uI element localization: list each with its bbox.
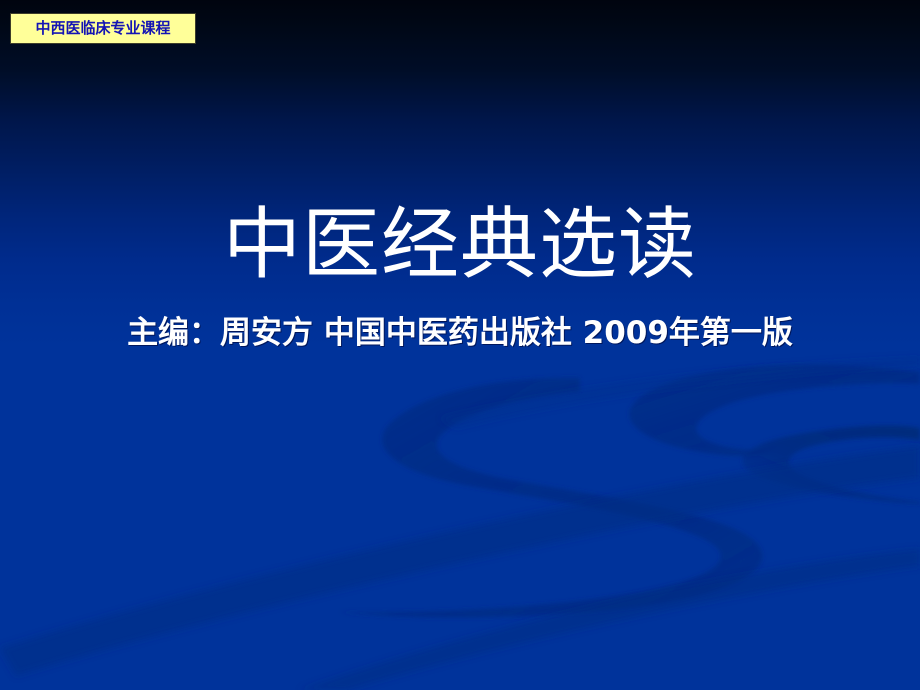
- course-category-badge: 中西医临床专业课程: [10, 13, 196, 44]
- page-title: 中医经典选读: [223, 206, 697, 286]
- title-container: 中医经典选读: [0, 206, 920, 286]
- subtitle-credits: 主编：周安方 中国中医药出版社 2009年第一版: [127, 316, 793, 350]
- course-category-label: 中西医临床专业课程: [35, 21, 170, 36]
- presentation-slide: 中西医临床专业课程 中医经典选读 主编：周安方 中国中医药出版社 2009年第一…: [0, 0, 920, 690]
- subtitle-container: 主编：周安方 中国中医药出版社 2009年第一版: [0, 316, 920, 350]
